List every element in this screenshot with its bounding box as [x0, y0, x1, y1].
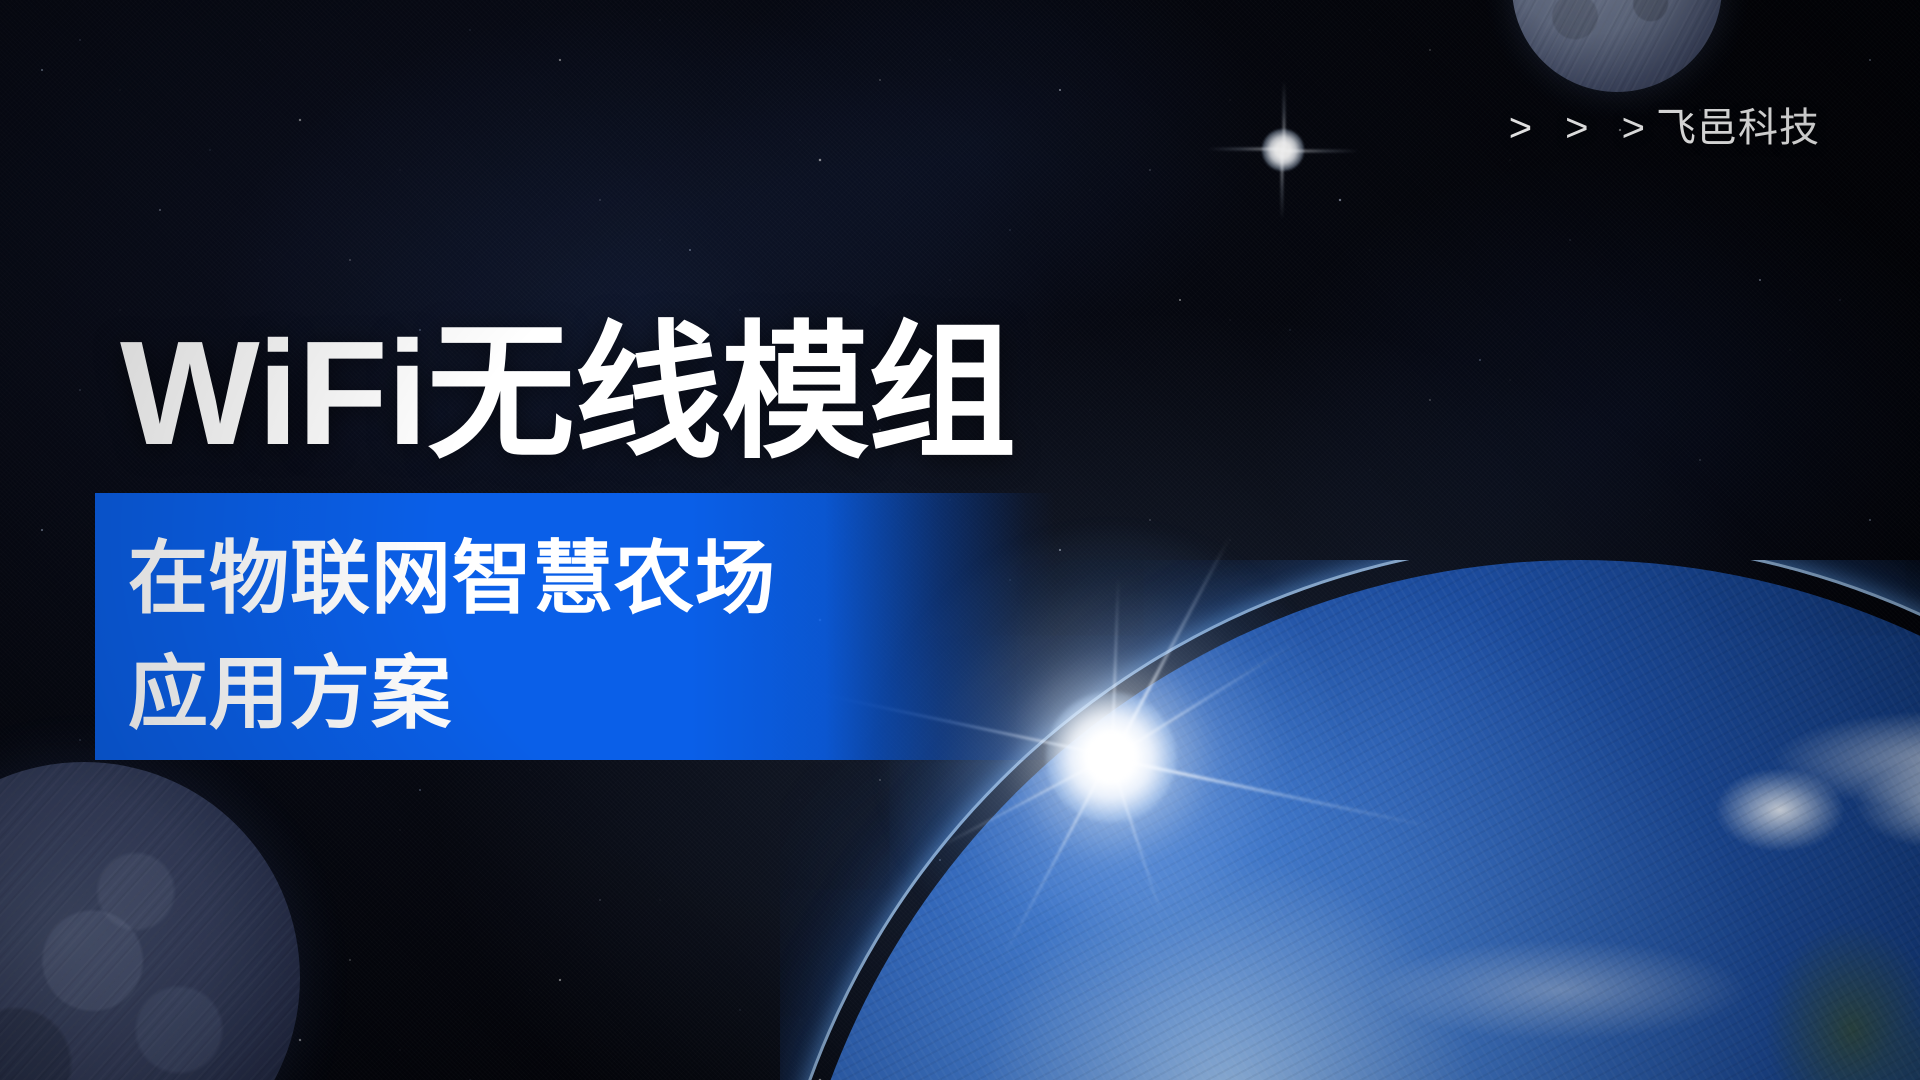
bright-star-ray-h [1283, 150, 1359, 152]
subtitle-banner-text: 在物联网智慧农场 应用方案 [128, 521, 776, 751]
bright-star-ray-h2 [1207, 148, 1283, 150]
brand-logo: > > >飞邑科技 [1509, 95, 1820, 153]
sun-flare-core [1046, 692, 1176, 822]
subtitle-banner: 在物联网智慧农场 应用方案 [95, 493, 1055, 760]
bright-star-ray-v [1281, 150, 1283, 220]
chevron-marks: > > > [1509, 106, 1656, 150]
slide-canvas: > > >飞邑科技 WiFi无线模组 在物联网智慧农场 应用方案 [0, 0, 1920, 1080]
subtitle-line-2: 应用方案 [128, 636, 776, 751]
page-title: WiFi无线模组 [120, 320, 1015, 468]
bright-star-ray-v2 [1283, 80, 1285, 150]
brand-name: 飞邑科技 [1656, 106, 1820, 150]
subtitle-line-1: 在物联网智慧农场 [128, 521, 776, 636]
